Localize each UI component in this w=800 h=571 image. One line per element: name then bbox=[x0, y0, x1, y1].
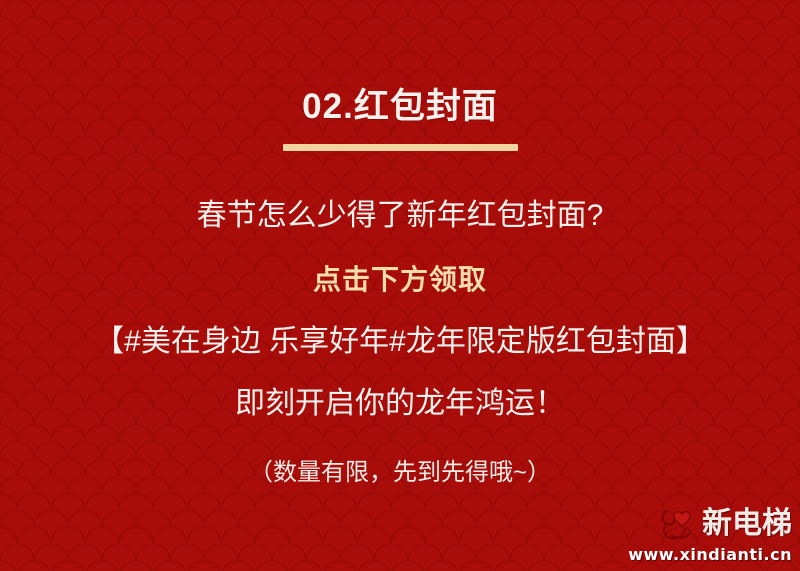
watermark-brand-name: 新电梯 bbox=[702, 509, 792, 539]
poster-content: 02.红包封面 春节怎么少得了新年红包封面? 点击下方领取 【#美在身边 乐享好… bbox=[0, 0, 800, 571]
poster-canvas: 02.红包封面 春节怎么少得了新年红包封面? 点击下方领取 【#美在身边 乐享好… bbox=[0, 0, 800, 571]
heart-shape bbox=[674, 512, 690, 526]
body-copy-block: 春节怎么少得了新年红包封面? 点击下方领取 【#美在身边 乐享好年#龙年限定版红… bbox=[0, 197, 800, 489]
watermark: 新电梯 www.xindianti.cn bbox=[628, 504, 792, 563]
body-line-call-to-action: 点击下方领取 bbox=[313, 262, 487, 297]
body-line-disclaimer: （数量有限，先到先得哦~） bbox=[249, 458, 551, 488]
body-line-question: 春节怎么少得了新年红包封面? bbox=[197, 197, 604, 235]
figure-with-heart-logo-icon bbox=[658, 505, 698, 543]
title-underline-divider bbox=[283, 144, 518, 151]
body-line-campaign-title: 【#美在身边 乐享好年#龙年限定版红包封面】 bbox=[94, 323, 706, 361]
watermark-logo-row: 新电梯 bbox=[658, 504, 792, 544]
heading-block: 02.红包封面 bbox=[283, 88, 518, 151]
watermark-url: www.xindianti.cn bbox=[628, 547, 792, 563]
page-title: 02.红包封面 bbox=[302, 88, 498, 127]
body-line-slogan: 即刻开启你的龙年鸿运！ bbox=[235, 385, 565, 423]
